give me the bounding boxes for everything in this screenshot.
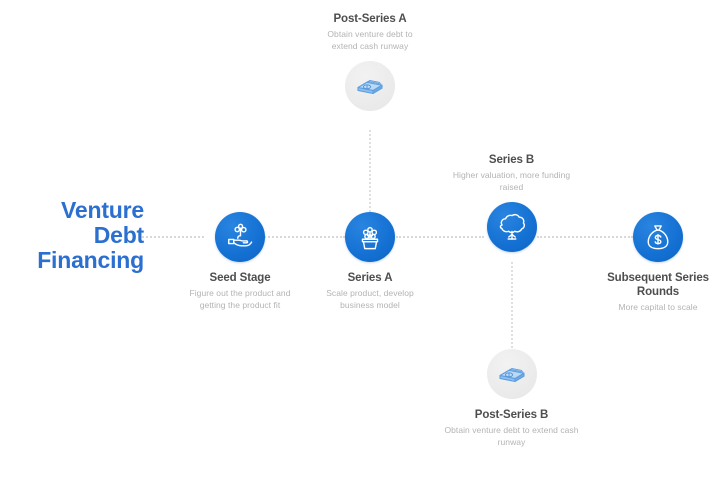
node-post-series-b-title: Post-Series B [444,408,579,422]
node-subsequent-series-rounds[interactable]: Subsequent Series Rounds More capital to… [596,212,720,314]
node-series-b-circle[interactable] [487,202,537,252]
node-series-b-title: Series B [444,153,579,167]
hand-seedling-icon [225,222,255,252]
node-seed-stage-desc: Figure out the product and getting the p… [179,288,301,311]
node-post-series-a-desc: Obtain venture debt to extend cash runwa… [319,29,421,52]
page-title-line-3: Financing [8,248,144,273]
node-series-a-title: Series A [320,271,420,285]
page-title: Venture Debt Financing [8,198,144,273]
connector-post-series-a-to-series-a [369,130,371,212]
node-series-a[interactable]: Series A Scale product, develop business… [320,212,420,311]
node-subsequent-series-rounds-title: Subsequent Series Rounds [596,271,720,299]
node-series-b[interactable]: Series B Higher valuation, more funding … [444,153,579,252]
node-series-a-desc: Scale product, develop business model [320,288,420,311]
node-post-series-a-title: Post-Series A [319,12,421,26]
node-subsequent-series-rounds-circle[interactable] [633,212,683,262]
node-seed-stage-title: Seed Stage [179,271,301,285]
node-seed-stage[interactable]: Seed Stage Figure out the product and ge… [179,212,301,311]
node-post-series-b[interactable]: Post-Series B Obtain venture debt to ext… [444,349,579,448]
page-title-line-1: Venture [8,198,144,223]
node-post-series-a[interactable]: Post-Series A Obtain venture debt to ext… [319,12,421,111]
potted-plant-icon [355,222,385,252]
connector-series-b-to-post-series-b [511,262,513,348]
tree-icon [496,211,528,243]
page-title-line-2: Debt [8,223,144,248]
infographic-canvas: Venture Debt Financing Post-Series A Obt… [0,0,720,478]
node-series-a-circle[interactable] [345,212,395,262]
node-post-series-a-circle[interactable] [345,61,395,111]
cash-stack-icon [354,70,386,102]
node-post-series-b-circle[interactable] [487,349,537,399]
cash-stack-icon [496,358,528,390]
node-seed-stage-circle[interactable] [215,212,265,262]
node-subsequent-series-rounds-desc: More capital to scale [596,302,720,314]
node-post-series-b-desc: Obtain venture debt to extend cash runwa… [444,425,579,448]
node-series-b-desc: Higher valuation, more funding raised [444,170,579,193]
money-bag-icon [643,222,673,252]
